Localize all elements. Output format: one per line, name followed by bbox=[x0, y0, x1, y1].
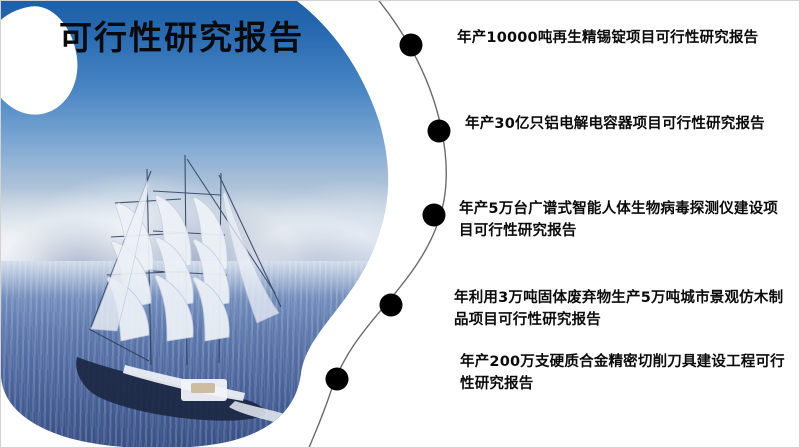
bullet-dot-5 bbox=[326, 368, 349, 391]
bullet-dot-2 bbox=[428, 120, 451, 143]
bullet-dot-3 bbox=[423, 204, 446, 227]
presentation-slide: 可行性研究报告 年产10000吨再生精锡锭项目可行性研究报告 年产30亿只铝电解… bbox=[0, 0, 800, 448]
bullet-dot-1 bbox=[400, 34, 423, 57]
list-item[interactable]: 年产200万支硬质合金精密切削刀具建设工程可行性研究报告 bbox=[460, 351, 792, 396]
list-item[interactable]: 年产10000吨再生精锡锭项目可行性研究报告 bbox=[457, 27, 800, 49]
list-item[interactable]: 年利用3万吨固体废弃物生产5万吨城市景观仿木制品项目可行性研究报告 bbox=[454, 287, 790, 332]
list-item[interactable]: 年产5万台广谱式智能人体生物病毒探测仪建设项目可行性研究报告 bbox=[459, 198, 789, 243]
list-item[interactable]: 年产30亿只铝电解电容器项目可行性研究报告 bbox=[465, 113, 791, 135]
bullet-dot-4 bbox=[380, 294, 403, 317]
